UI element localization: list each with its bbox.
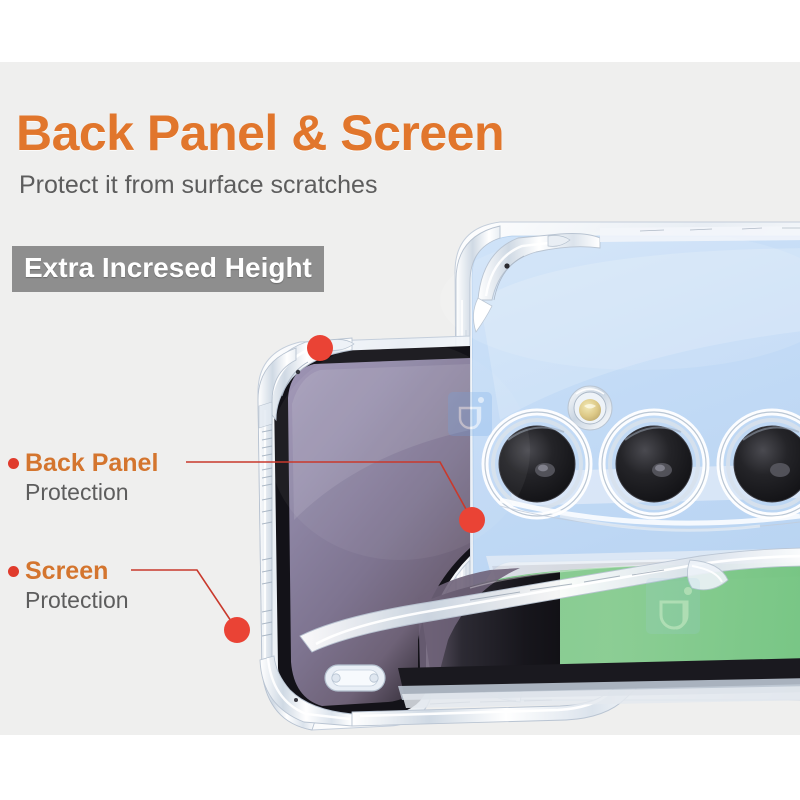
background-bottom-band bbox=[0, 735, 800, 800]
port-cutout bbox=[325, 665, 385, 691]
callout-screen: Screen Protection bbox=[8, 559, 268, 621]
callout-subtitle: Protection bbox=[25, 481, 129, 504]
page-title: Back Panel & Screen bbox=[16, 108, 504, 158]
bullet-dot-icon bbox=[8, 458, 19, 469]
camera-lens-2 bbox=[602, 412, 706, 516]
callout-title: Back Panel bbox=[25, 451, 158, 476]
feature-badge: Extra Incresed Height bbox=[12, 246, 324, 292]
watermark-blue bbox=[448, 392, 492, 436]
callout-title: Screen bbox=[25, 559, 108, 584]
product-feature-graphic: Back Panel & Screen Protect it from surf… bbox=[0, 0, 800, 800]
bullet-dot-icon bbox=[8, 566, 19, 577]
page-subtitle: Protect it from surface scratches bbox=[19, 172, 377, 200]
callout-subtitle: Protection bbox=[25, 589, 129, 612]
watermark-green bbox=[646, 578, 700, 634]
callout-back-panel: Back Panel Protection bbox=[8, 451, 268, 513]
